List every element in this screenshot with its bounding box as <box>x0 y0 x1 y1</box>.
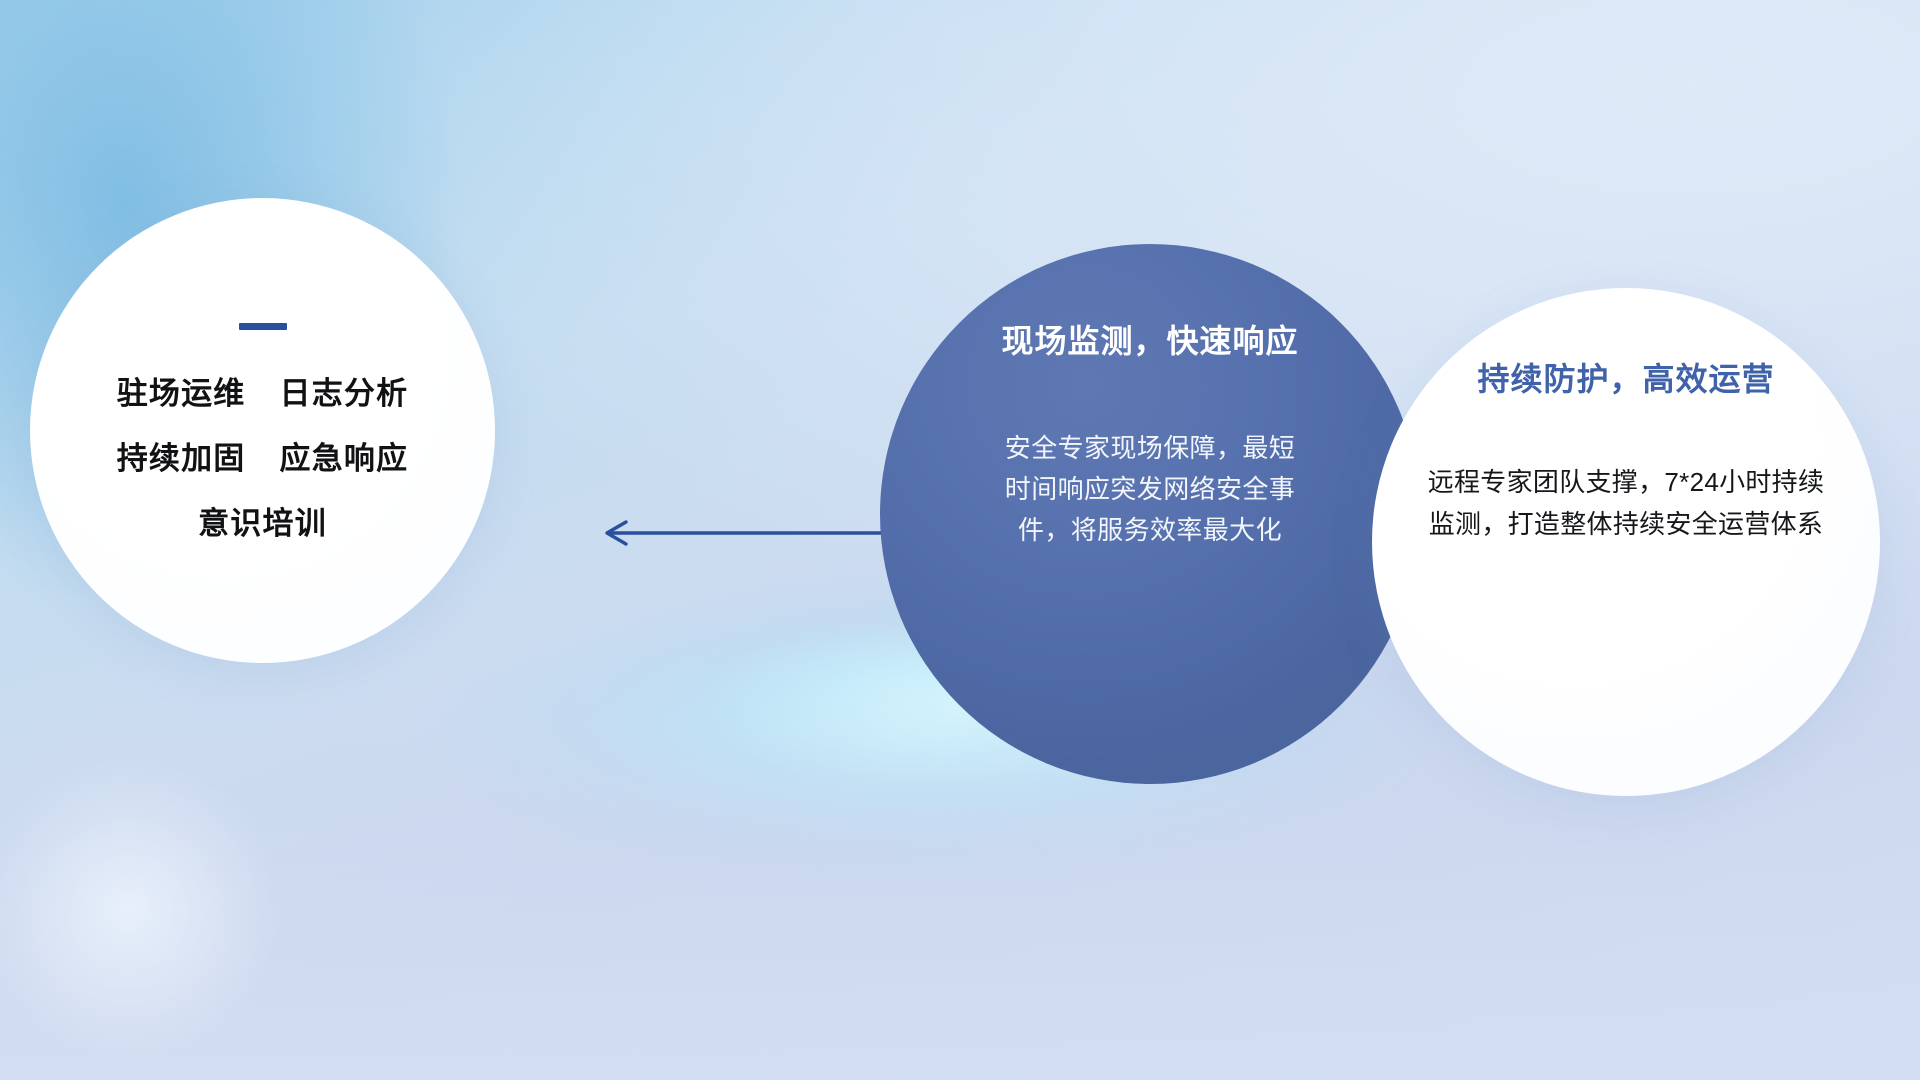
capability-tag-log-analysis: 日志分析 <box>280 378 409 409</box>
right-circle-content: 持续防护，高效运营 远程专家团队支撑，7*24小时持续监测，打造整体持续安全运营… <box>1372 288 1880 796</box>
middle-circle-content: 现场监测，快速响应 安全专家现场保障，最短时间响应突发网络安全事件，将服务效率最… <box>880 244 1420 784</box>
capability-row: 意识培训 <box>198 508 327 539</box>
middle-circle-body: 安全专家现场保障，最短时间响应突发网络安全事件，将服务效率最大化 <box>995 428 1305 551</box>
background-left-edge-glow <box>0 700 360 1080</box>
capability-tag-onsite-ops: 驻场运维 <box>117 378 246 409</box>
feature-circle-middle: 现场监测，快速响应 安全专家现场保障，最短时间响应突发网络安全事件，将服务效率最… <box>880 244 1420 784</box>
arrow-left-icon <box>590 516 910 550</box>
divider-dash <box>239 323 287 330</box>
capability-row: 持续加固 应急响应 <box>117 443 409 474</box>
feature-circle-right: 持续防护，高效运营 远程专家团队支撑，7*24小时持续监测，打造整体持续安全运营… <box>1372 288 1880 796</box>
capability-tag-emergency-response: 应急响应 <box>280 443 409 474</box>
middle-circle-title: 现场监测，快速响应 <box>1001 316 1298 362</box>
right-circle-body: 远程专家团队支撑，7*24小时持续监测，打造整体持续安全运营体系 <box>1421 462 1831 545</box>
right-circle-title: 持续防护，高效运营 <box>1477 354 1774 400</box>
capability-row: 驻场运维 日志分析 <box>117 378 409 409</box>
capability-tag-awareness-training: 意识培训 <box>198 508 327 539</box>
capability-circle-left: 驻场运维 日志分析 持续加固 应急响应 意识培训 <box>30 198 495 663</box>
left-circle-content: 驻场运维 日志分析 持续加固 应急响应 意识培训 <box>30 198 495 663</box>
capability-tag-hardening: 持续加固 <box>117 443 246 474</box>
